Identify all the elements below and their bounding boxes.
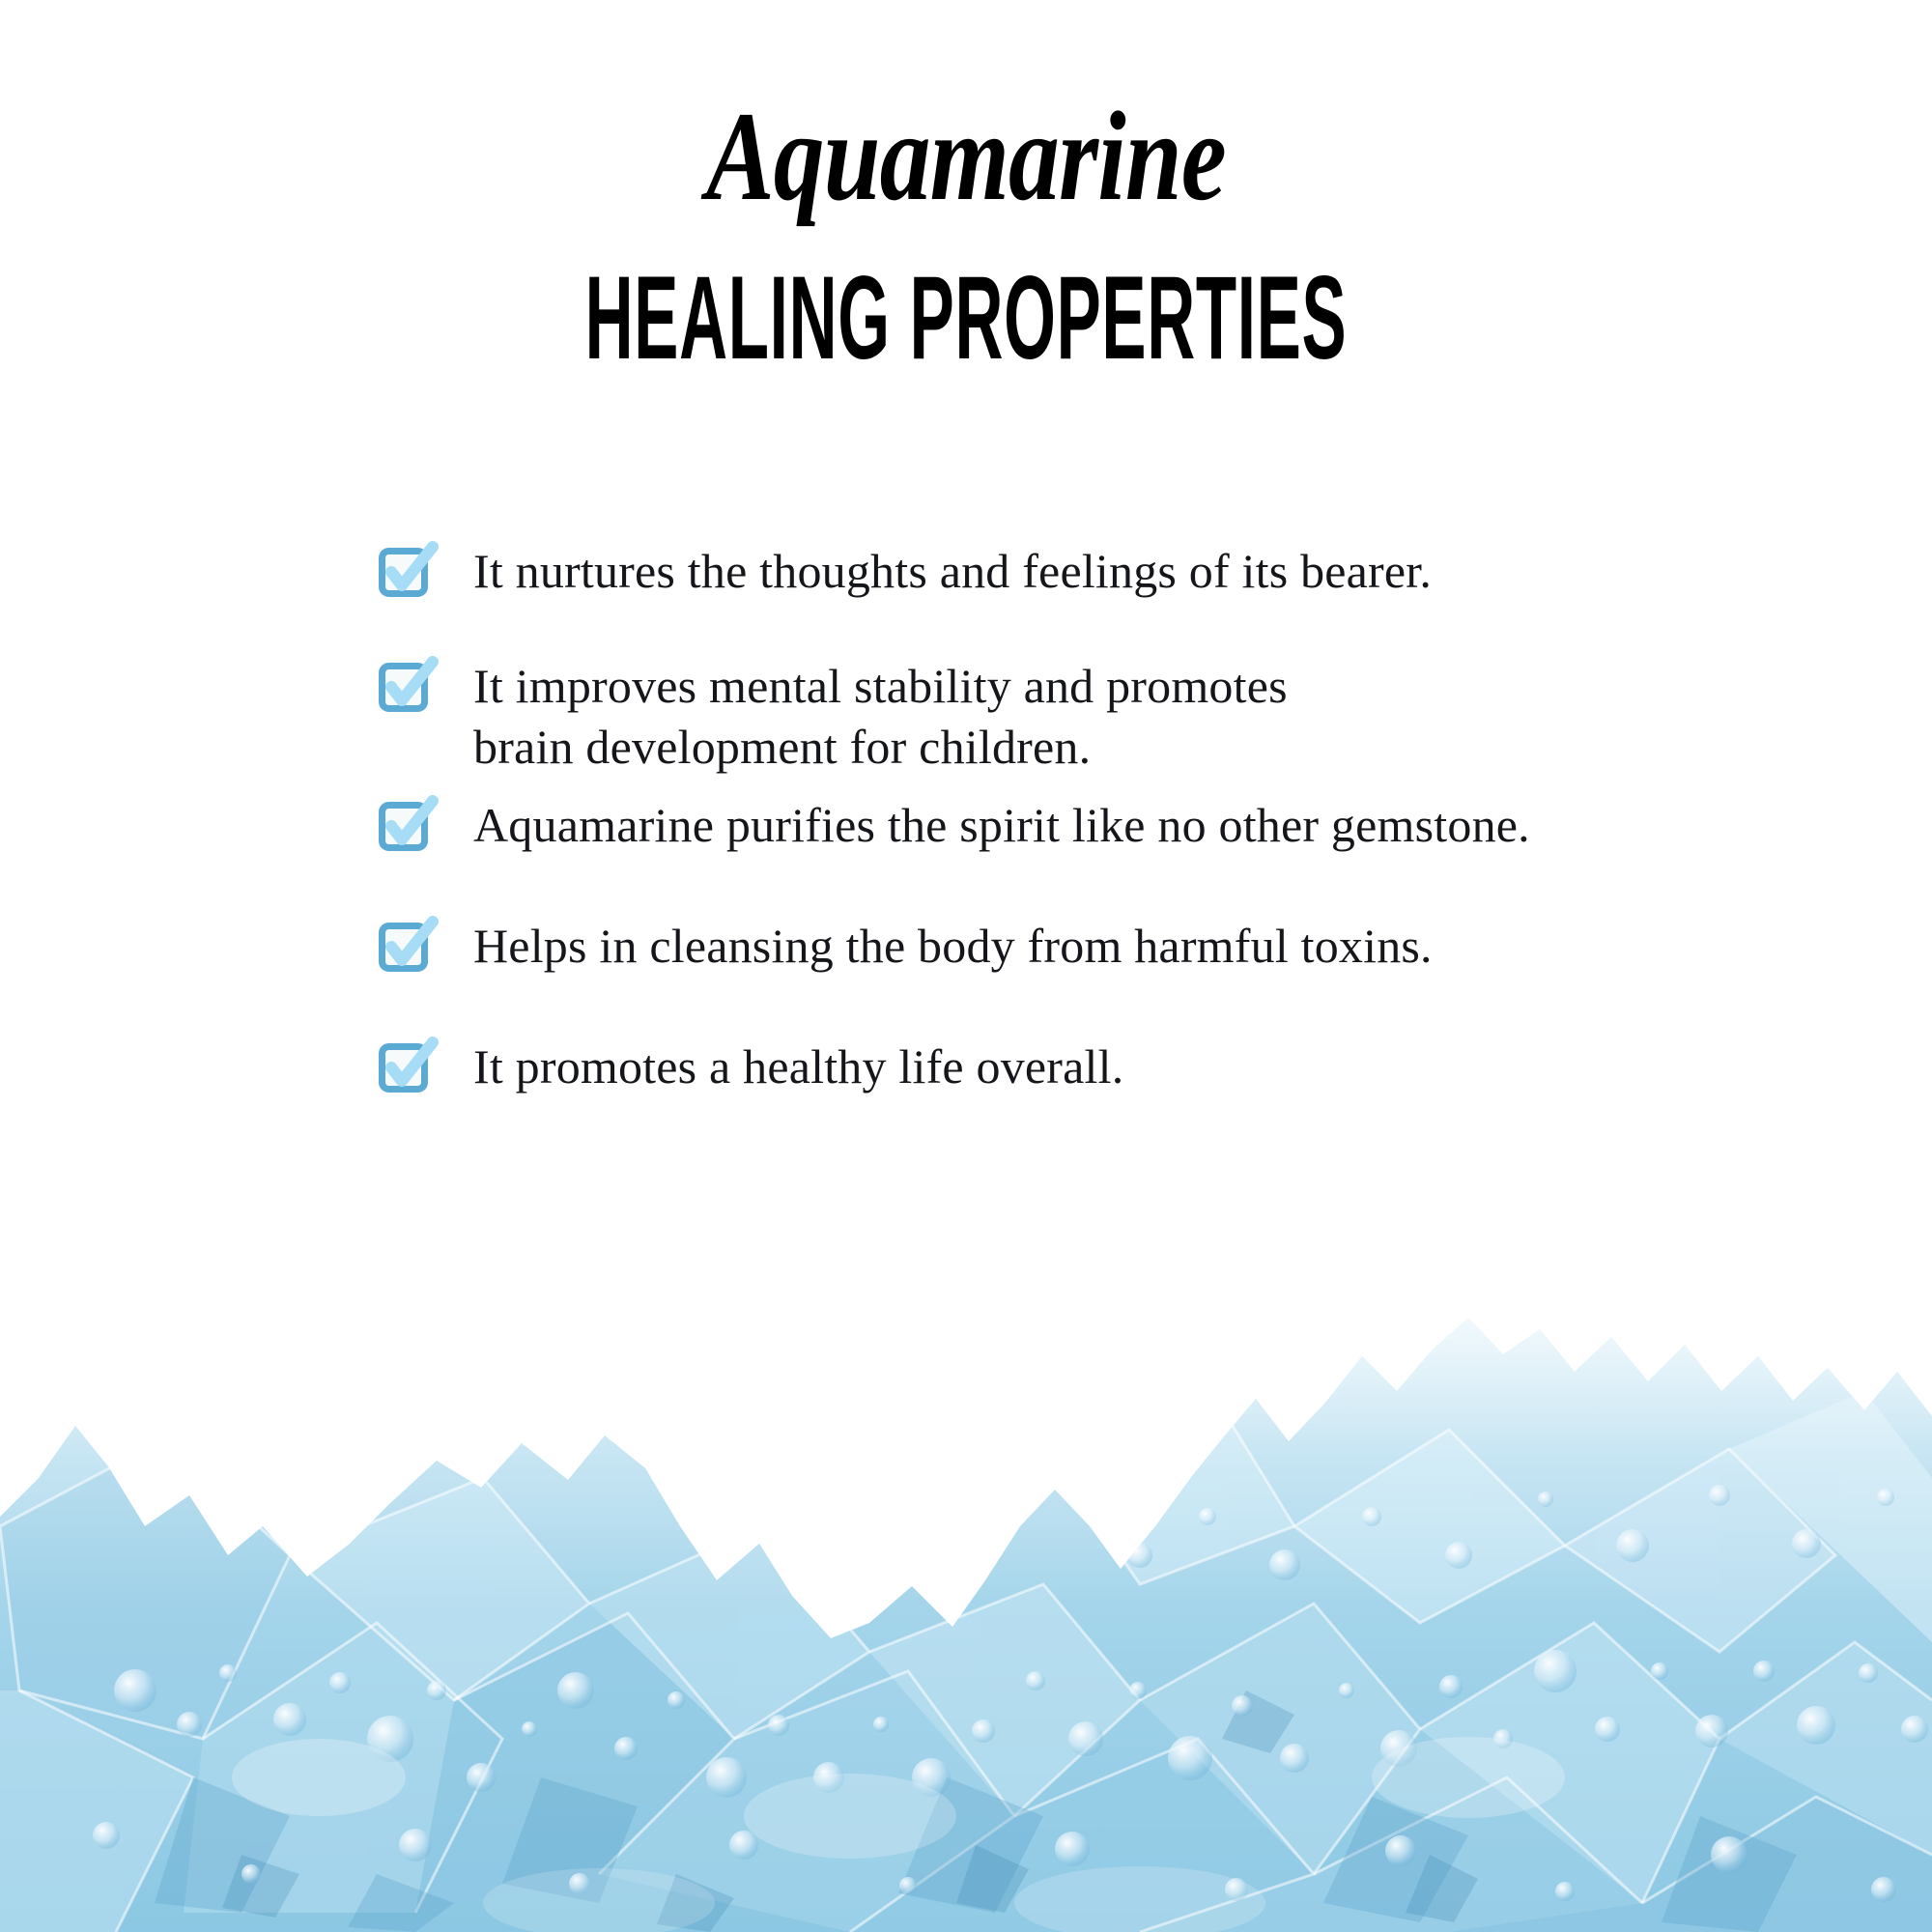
checkbox-checked-icon (379, 1042, 431, 1094)
list-item-text: Aquamarine purifies the spirit like no o… (473, 795, 1789, 856)
list-item: Aquamarine purifies the spirit like no o… (379, 795, 1789, 856)
list-item: It improves mental stability and promote… (379, 656, 1789, 778)
page-title: Aquamarine (193, 93, 1739, 220)
list-item-line: It promotes a healthy life overall. (473, 1037, 1789, 1097)
list-item: It promotes a healthy life overall. (379, 1037, 1789, 1097)
header-block: Aquamarine HEALING PROPERTIES (0, 93, 1932, 365)
list-item-text: It promotes a healthy life overall. (473, 1037, 1789, 1097)
checkbox-checked-icon (379, 922, 431, 974)
checkbox-checked-icon (379, 547, 431, 599)
list-item-line: It improves mental stability and promote… (473, 656, 1789, 717)
poster-canvas: Aquamarine HEALING PROPERTIES It nurture… (0, 0, 1932, 1932)
list-item-text: Helps in cleansing the body from harmful… (473, 916, 1789, 977)
list-item-text: It improves mental stability and promote… (473, 656, 1789, 778)
checkbox-checked-icon (379, 801, 431, 853)
list-item-line: Aquamarine purifies the spirit like no o… (473, 795, 1789, 856)
list-item-line: brain development for children. (473, 717, 1789, 778)
checkbox-checked-icon (379, 662, 431, 714)
list-item: It nurtures the thoughts and feelings of… (379, 541, 1789, 602)
ice-cubes-photo (0, 1236, 1932, 1932)
list-item-line: It nurtures the thoughts and feelings of… (473, 541, 1789, 602)
list-item-text: It nurtures the thoughts and feelings of… (473, 541, 1789, 602)
list-item-line: Helps in cleansing the body from harmful… (473, 916, 1789, 977)
healing-properties-list: It nurtures the thoughts and feelings of… (379, 541, 1789, 1097)
page-subtitle: HEALING PROPERTIES (270, 260, 1662, 379)
list-item: Helps in cleansing the body from harmful… (379, 916, 1789, 977)
